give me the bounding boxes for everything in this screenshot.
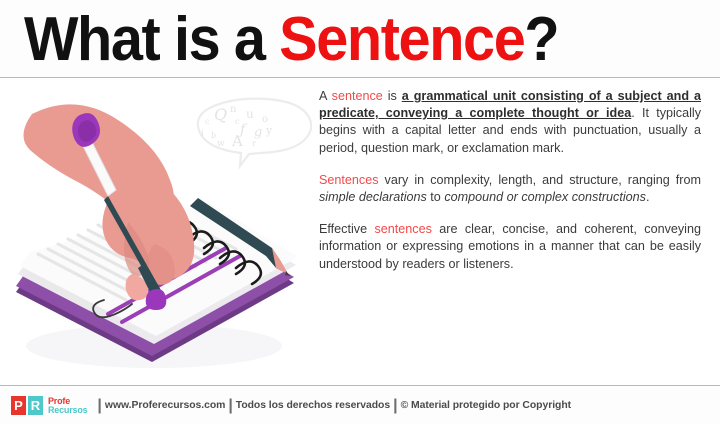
footer-website-link[interactable]: www.Proferecursos.com xyxy=(105,400,225,411)
svg-text:b: b xyxy=(211,131,216,140)
footer-rights-text: Todos los derechos reservados xyxy=(236,400,390,411)
run-text: A xyxy=(319,89,332,103)
logo-tile-p: P xyxy=(11,396,26,415)
logo-word-recursos: Recursos xyxy=(48,406,87,415)
footer-bar: P R Profe Recursos | www.Proferecursos.c… xyxy=(0,385,720,424)
footer-separator: | xyxy=(390,397,400,415)
svg-text:Q: Q xyxy=(214,105,227,124)
proferecursos-logo[interactable]: P R Profe Recursos xyxy=(11,396,87,415)
footer-copyright-text: © Material protegido por Copyright xyxy=(401,400,571,411)
run-text: to xyxy=(427,190,445,204)
svg-text:y: y xyxy=(265,124,273,137)
keyword-sentence: sentence xyxy=(332,89,383,103)
svg-text:w: w xyxy=(217,139,225,149)
svg-text:n: n xyxy=(230,104,237,115)
svg-text:c: c xyxy=(205,117,210,126)
run-text: vary in complexity, length, and structur… xyxy=(379,173,701,187)
hand-writing-notebook-illustration: Q n c u o c f g y i b w A r xyxy=(4,78,312,385)
logo-tile-r: R xyxy=(28,396,43,415)
paragraph-definition: A sentence is a grammatical unit consist… xyxy=(319,88,701,157)
page-title-question-mark: ? xyxy=(524,5,558,74)
header-bar: What is a Sentence? xyxy=(0,0,720,78)
content-area: Q n c u o c f g y i b w A r xyxy=(0,78,720,385)
run-text: Effective xyxy=(319,222,374,236)
svg-text:u: u xyxy=(246,107,254,121)
logo-tiles: P R xyxy=(11,396,43,415)
keyword-sentences: Sentences xyxy=(319,173,379,187)
run-text: . xyxy=(646,190,650,204)
logo-wordmark: Profe Recursos xyxy=(48,397,87,414)
page-title-plain: What is a xyxy=(24,5,279,74)
footer-separator: | xyxy=(225,397,235,415)
paragraph-variety: Sentences vary in complexity, length, an… xyxy=(319,172,701,206)
footer-separator: | xyxy=(94,397,104,415)
page-title: What is a Sentence? xyxy=(24,4,558,76)
italic-compound-complex: compound or complex constructions xyxy=(444,190,646,204)
run-text: is xyxy=(383,89,402,103)
footer-content: P R Profe Recursos | www.Proferecursos.c… xyxy=(11,386,571,424)
keyword-sentences: sentences xyxy=(374,222,431,236)
svg-text:r: r xyxy=(252,139,256,148)
speech-bubble-icon: Q n c u o c f g y i b w A r xyxy=(198,99,311,166)
definition-text-column: A sentence is a grammatical unit consist… xyxy=(319,88,701,273)
italic-simple-declarations: simple declarations xyxy=(319,190,427,204)
svg-text:A: A xyxy=(231,132,243,150)
svg-text:g: g xyxy=(254,125,262,140)
infographic-page: What is a Sentence? Q n c u o c f g xyxy=(0,0,720,424)
svg-text:i: i xyxy=(201,129,204,139)
page-title-accent: Sentence xyxy=(279,5,524,74)
paragraph-effectiveness: Effective sentences are clear, concise, … xyxy=(319,221,701,273)
